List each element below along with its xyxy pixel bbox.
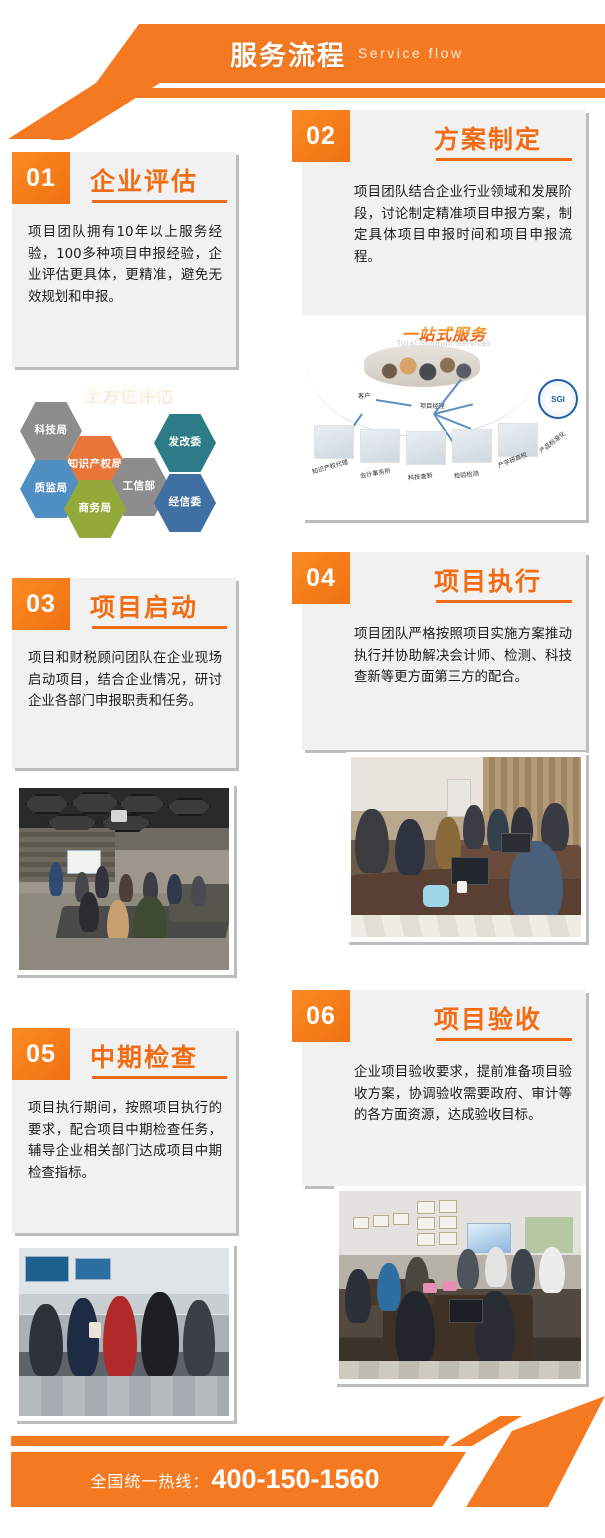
footer-hotline-number[interactable]: 400-150-1560 bbox=[211, 1464, 379, 1495]
photo-onsite-inspection bbox=[14, 1243, 234, 1421]
hex-assessment-diagram: 全方位评估 科技局 知识产权局 质监局 工信部 商务局 发改委 经信委 bbox=[12, 374, 236, 542]
step-card-06: 06 项目验收 企业项目验收要求，提前准备项目验收方案，协调验收需要政府、审计等… bbox=[292, 990, 592, 1390]
card-06-body: 企业项目验收要求，提前准备项目验收方案，协调验收需要政府、审计等的各方面资源，达… bbox=[354, 1062, 572, 1127]
oss-node-accounting bbox=[360, 429, 400, 463]
step-card-05: 05 中期检查 项目执行期间，按照项目执行的要求，配合项目中期检查任务，辅导企业… bbox=[12, 1028, 252, 1418]
card-05-number-badge: 05 bbox=[12, 1028, 70, 1080]
card-06-title: 项目验收 bbox=[434, 1000, 542, 1036]
card-03-body: 项目和财税顾问团队在企业现场启动项目，结合企业情况，研讨企业各部门申报职责和任务… bbox=[28, 648, 222, 713]
card-02-body: 项目团队结合企业行业领域和发展阶段，讨论制定精准项目申报方案，制定具体项目申报时… bbox=[354, 182, 572, 269]
card-04-body: 项目团队严格按照项目实施方案推动执行并协助解决会计师、检测、科技查新等更方面第三… bbox=[354, 624, 572, 689]
oss-label-testing: 检验检测 bbox=[454, 468, 480, 480]
card-01-title-rule bbox=[92, 200, 227, 203]
oss-label-ip: 知识产权代理 bbox=[311, 457, 349, 476]
hex-node-fagai: 发改委 bbox=[154, 414, 216, 472]
card-01-title: 企业评估 bbox=[90, 162, 198, 198]
card-06-number-badge: 06 bbox=[292, 990, 350, 1042]
card-05-title: 中期检查 bbox=[90, 1038, 198, 1074]
photo-conference-room-kickoff bbox=[14, 783, 234, 975]
card-03-title: 项目启动 bbox=[90, 588, 198, 624]
card-03-number-badge: 03 bbox=[12, 578, 70, 630]
card-02-title: 方案制定 bbox=[434, 120, 542, 156]
card-02-number-badge: 02 bbox=[292, 110, 350, 162]
card-04-number-badge: 04 bbox=[292, 552, 350, 604]
photo-team-working-laptops bbox=[346, 752, 586, 942]
service-flow-infographic: 服务流程 Service flow 01 企业评估 项目团队拥有10年以上服务经… bbox=[0, 0, 605, 1538]
hex-diagram-title: 全方位评估 bbox=[84, 382, 174, 407]
card-05-title-rule bbox=[92, 1076, 227, 1079]
oss-node-novelty bbox=[406, 431, 446, 465]
photo-06-scene bbox=[339, 1191, 581, 1379]
oss-certification-seal: SGI bbox=[538, 379, 578, 419]
card-05-body: 项目执行期间，按照项目执行的要求，配合项目中期检查任务，辅导企业相关部门达成项目… bbox=[28, 1098, 222, 1185]
card-06-title-rule bbox=[436, 1038, 572, 1041]
card-04-title: 项目执行 bbox=[434, 562, 542, 598]
photo-acceptance-meeting bbox=[334, 1186, 586, 1384]
photo-04-scene bbox=[351, 757, 581, 937]
one-stop-service-diagram: 一站式服务 Total Solution Services 客户 项目经理 SG… bbox=[302, 315, 586, 520]
oss-node-testing bbox=[452, 429, 492, 463]
card-03-title-rule bbox=[92, 626, 227, 629]
footer-hotline-group: 全国统一热线： 400-150-1560 bbox=[0, 1452, 470, 1507]
photo-05-scene bbox=[19, 1248, 229, 1416]
oss-label-accounting: 会计事务所 bbox=[359, 466, 391, 480]
oss-label-standard: 产品标准化 bbox=[537, 429, 567, 455]
card-02-title-rule bbox=[436, 158, 572, 161]
header-title-group: 服务流程 Service flow bbox=[0, 24, 605, 83]
oss-label-novelty: 科技查新 bbox=[408, 470, 434, 482]
step-card-03: 03 项目启动 项目和财税顾问团队在企业现场启动项目，结合企业情况，研讨企业各部… bbox=[12, 578, 252, 978]
oss-node-ip bbox=[314, 425, 354, 459]
header-title-en: Service flow bbox=[358, 45, 463, 63]
photo-03-scene bbox=[19, 788, 229, 970]
footer-hotline-label: 全国统一热线： bbox=[90, 1468, 209, 1492]
header-title-cn: 服务流程 bbox=[230, 34, 346, 73]
card-04-title-rule bbox=[436, 600, 572, 603]
step-card-02: 02 方案制定 项目团队结合企业行业领域和发展阶段，讨论制定精准项目申报方案，制… bbox=[292, 110, 592, 530]
card-01-body: 项目团队拥有10年以上服务经验，100多种项目申报经验，企业评估更具体，更精准，… bbox=[28, 222, 222, 309]
card-01-number-badge: 01 bbox=[12, 152, 70, 204]
step-card-01: 01 企业评估 项目团队拥有10年以上服务经验，100多种项目申报经验，企业评估… bbox=[12, 152, 242, 542]
step-card-04: 04 项目执行 项目团队严格按照项目实施方案推动执行并协助解决会计师、检测、科技… bbox=[292, 552, 592, 952]
oss-label-customer: 客户 bbox=[358, 391, 370, 400]
